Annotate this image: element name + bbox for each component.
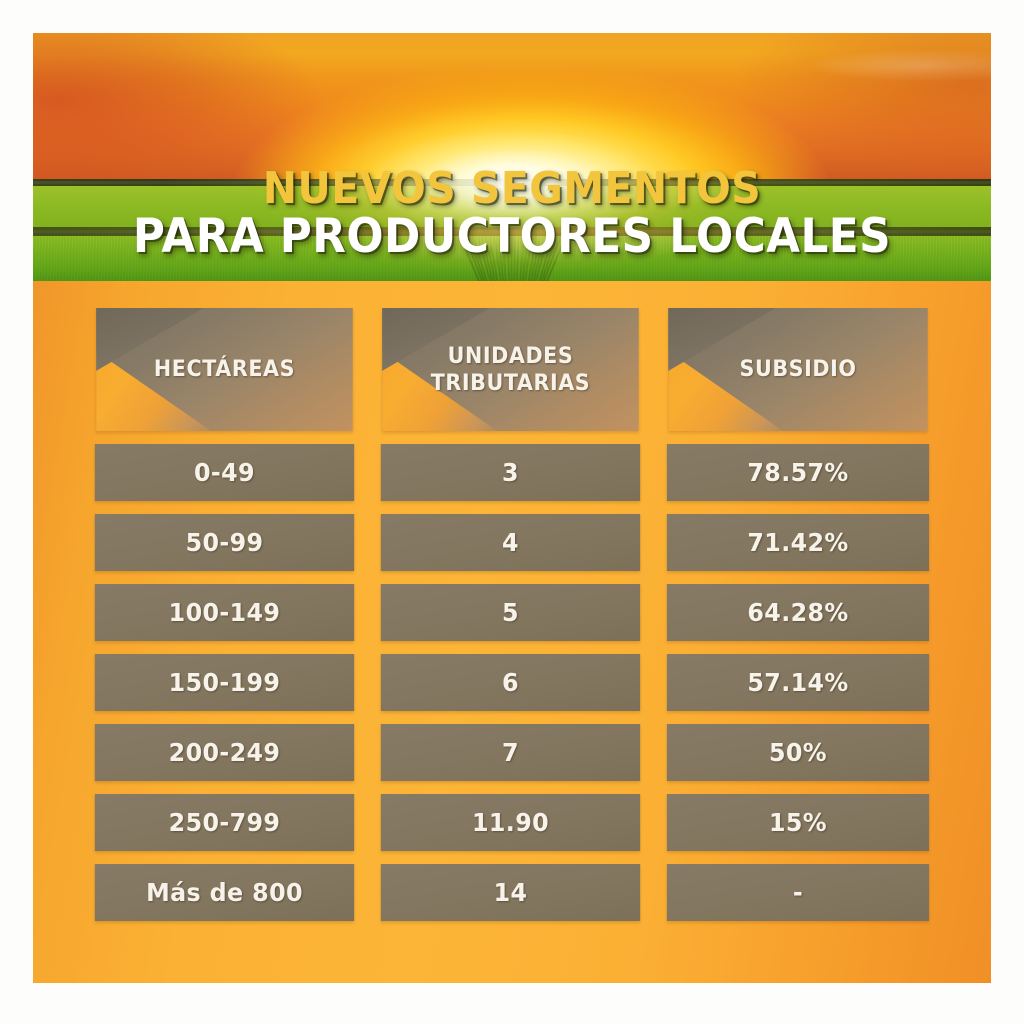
cell-unidades-tributarias: 4 — [381, 514, 640, 571]
cell-hectareas: 100-149 — [95, 584, 354, 641]
cell-hectareas: 250-799 — [95, 794, 354, 851]
table-row: 0-49 3 78.57% — [88, 444, 936, 501]
cell-subsidio: 71.42% — [667, 514, 929, 571]
cell-hectareas: Más de 800 — [95, 864, 354, 921]
title-line-2: PARA PRODUCTORES LOCALES — [67, 212, 958, 262]
cell-subsidio: 78.57% — [667, 444, 929, 501]
cell-unidades-tributarias: 3 — [381, 444, 640, 501]
segments-table: HECTÁREAS UNIDADES TRIBUTARIAS SUBSIDIO … — [88, 308, 936, 921]
sky-gradient — [33, 33, 991, 181]
cell-hectareas: 50-99 — [95, 514, 354, 571]
cell-subsidio: 15% — [667, 794, 929, 851]
cell-unidades-tributarias: 7 — [381, 724, 640, 781]
column-header-subsidio: SUBSIDIO — [668, 308, 927, 431]
table-row: 150-199 6 57.14% — [88, 654, 936, 711]
column-header-unidades-tributarias: UNIDADES TRIBUTARIAS — [382, 308, 639, 431]
orange-panel: HECTÁREAS UNIDADES TRIBUTARIAS SUBSIDIO … — [33, 281, 991, 983]
title-line-1: NUEVOS SEGMENTOS — [67, 166, 958, 212]
title-block: NUEVOS SEGMENTOS PARA PRODUCTORES LOCALE… — [33, 166, 991, 262]
cell-subsidio: 57.14% — [667, 654, 929, 711]
infographic-canvas: NUEVOS SEGMENTOS PARA PRODUCTORES LOCALE… — [0, 0, 1024, 1024]
cell-subsidio: 50% — [667, 724, 929, 781]
cell-subsidio: 64.28% — [667, 584, 929, 641]
table-row: 250-799 11.90 15% — [88, 794, 936, 851]
cell-hectareas: 0-49 — [95, 444, 354, 501]
table-row: 100-149 5 64.28% — [88, 584, 936, 641]
cell-unidades-tributarias: 14 — [381, 864, 640, 921]
cell-unidades-tributarias: 11.90 — [381, 794, 640, 851]
table-row: Más de 800 14 - — [88, 864, 936, 921]
cell-hectareas: 200-249 — [95, 724, 354, 781]
table-row: 200-249 7 50% — [88, 724, 936, 781]
cell-hectareas: 150-199 — [95, 654, 354, 711]
table-header-row: HECTÁREAS UNIDADES TRIBUTARIAS SUBSIDIO — [88, 308, 936, 431]
cell-subsidio: - — [667, 864, 929, 921]
cell-unidades-tributarias: 6 — [381, 654, 640, 711]
table-row: 50-99 4 71.42% — [88, 514, 936, 571]
column-header-hectareas: HECTÁREAS — [96, 308, 353, 431]
cell-unidades-tributarias: 5 — [381, 584, 640, 641]
